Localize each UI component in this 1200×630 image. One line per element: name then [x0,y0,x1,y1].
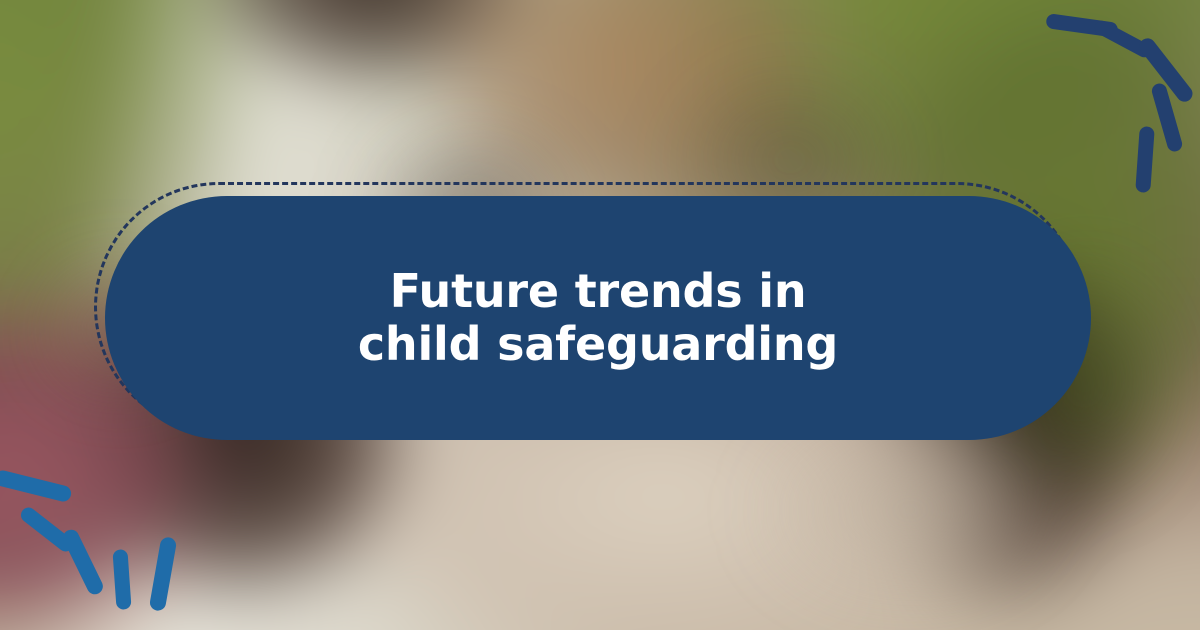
starburst-ray-icon [112,549,131,610]
starburst-ray-icon [149,536,178,612]
page-title: Future trends in child safeguarding [358,265,838,372]
title-card: Future trends in child safeguarding [105,196,1091,440]
starburst-ray-icon [0,469,73,503]
starburst-top-right-icon [1020,0,1200,170]
starburst-bottom-left-icon [0,450,180,630]
starburst-ray-icon [60,527,105,597]
social-card-canvas: Future trends in child safeguarding [0,0,1200,630]
